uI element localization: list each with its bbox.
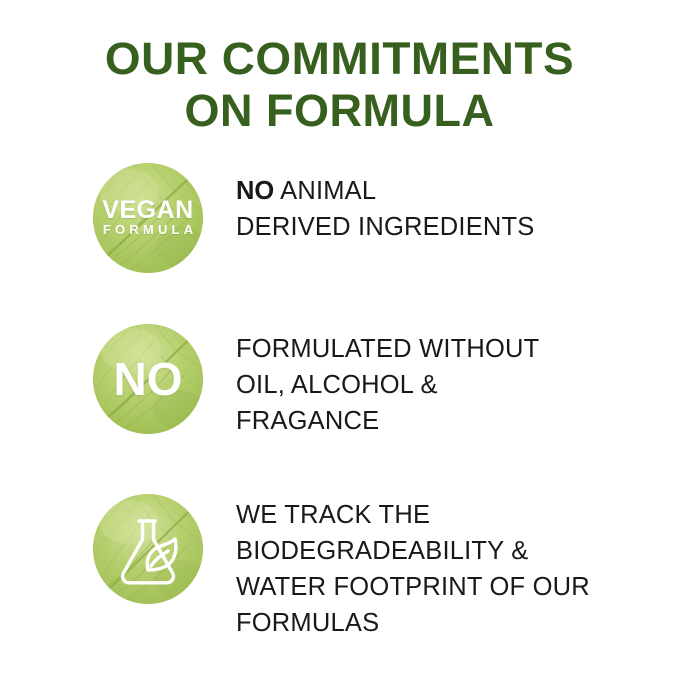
leaf-texture-icon [93, 324, 203, 434]
commitment-text-no: FORMULATED WITHOUT OIL, ALCOHOL & FRAGAN… [236, 324, 679, 439]
badge-no: NO [93, 324, 203, 434]
commitment-text-line-1: WE TRACK THE [236, 497, 679, 533]
commitment-item-biodegradeability: WE TRACK THE BIODEGRADEABILITY & WATER F… [0, 494, 679, 641]
leaf-texture-icon [93, 163, 203, 273]
commitment-text-line-1: FORMULATED WITHOUT [236, 331, 679, 367]
badge-flask [93, 494, 203, 604]
commitment-item-vegan: VEGAN FORMULA NO ANIMAL DERIVED INGREDIE… [0, 163, 679, 273]
leaf-texture-icon [93, 494, 203, 604]
commitment-text-line-2: DERIVED INGREDIENTS [236, 209, 679, 245]
commitment-text-biodegradeability: WE TRACK THE BIODEGRADEABILITY & WATER F… [236, 494, 679, 641]
commitment-text-line-3: WATER FOOTPRINT OF OUR [236, 569, 679, 605]
commitments-poster: OUR COMMITMENTS ON FORMULA [0, 0, 679, 679]
commitment-text-rest: ANIMAL [274, 177, 376, 205]
page-title-line-2: ON FORMULA [0, 85, 679, 137]
commitment-text-line-2: OIL, ALCOHOL & [236, 367, 679, 403]
commitment-text-line-4: FORMULAS [236, 605, 679, 641]
commitment-item-no: NO FORMULATED WITHOUT OIL, ALCOHOL & FRA… [0, 324, 679, 439]
badge-vegan-formula: VEGAN FORMULA [93, 163, 203, 273]
commitment-text-emphasis: NO [236, 177, 274, 205]
commitment-text-line-3: FRAGANCE [236, 403, 679, 439]
commitment-text-vegan: NO ANIMAL DERIVED INGREDIENTS [236, 163, 679, 245]
commitment-text-line-1: NO ANIMAL [236, 173, 679, 209]
page-title-line-1: OUR COMMITMENTS [0, 33, 679, 85]
commitment-text-line-2: BIODEGRADEABILITY & [236, 533, 679, 569]
page-title: OUR COMMITMENTS ON FORMULA [0, 33, 679, 137]
